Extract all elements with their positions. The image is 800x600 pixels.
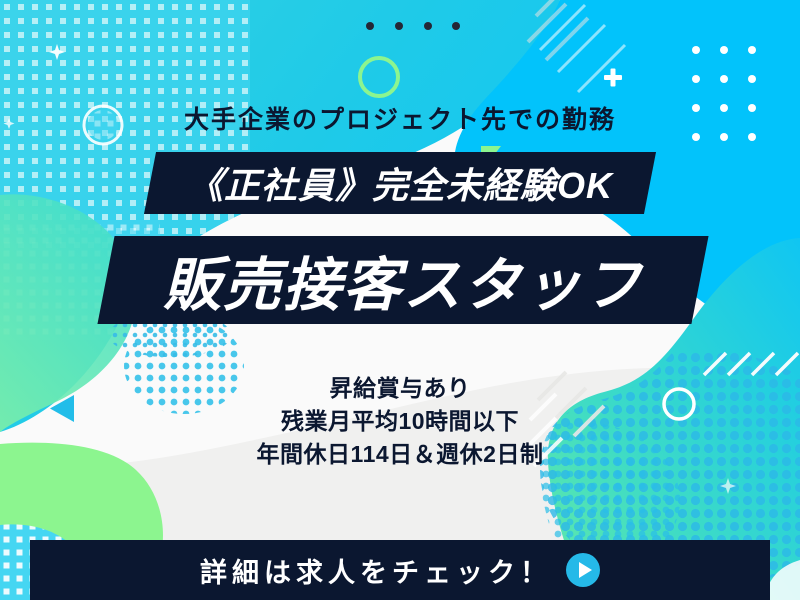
benefit-item: 残業月平均10時間以下	[0, 405, 800, 438]
benefit-item: 昇給賞与あり	[0, 372, 800, 405]
headline-band-2-text: 販売接客スタッフ	[106, 236, 700, 324]
benefit-item: 年間休日114日＆週休2日制	[0, 438, 800, 471]
content-layer: 大手企業のプロジェクト先での勤務 《正社員》完全未経験OK 販売接客スタッフ 昇…	[0, 0, 800, 600]
job-ad-banner: 大手企業のプロジェクト先での勤務 《正社員》完全未経験OK 販売接客スタッフ 昇…	[0, 0, 800, 600]
kicker-text: 大手企業のプロジェクト先での勤務	[0, 100, 800, 136]
headline-band-1: 《正社員》完全未経験OK	[150, 152, 650, 214]
headline-band-2: 販売接客スタッフ	[106, 236, 700, 324]
play-circle-icon[interactable]	[566, 553, 600, 587]
headline-band-1-text: 《正社員》完全未経験OK	[150, 152, 650, 214]
cta-bar[interactable]: 詳細は求人をチェック！	[30, 540, 770, 600]
cta-label: 詳細は求人をチェック！	[200, 551, 552, 590]
play-triangle-icon	[579, 562, 592, 578]
benefits-list: 昇給賞与あり 残業月平均10時間以下 年間休日114日＆週休2日制	[0, 372, 800, 471]
